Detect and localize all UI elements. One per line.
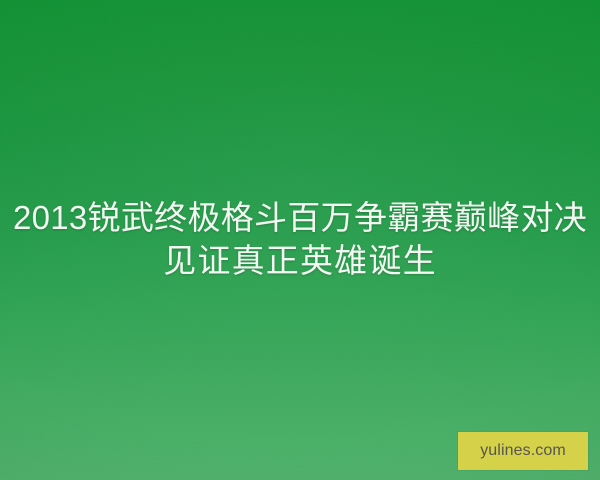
headline-line-1: 2013锐武终极格斗百万争霸赛巅峰对决 [0,196,600,239]
headline-line-2: 见证真正英雄诞生 [0,239,600,282]
headline-title: 2013锐武终极格斗百万争霸赛巅峰对决 见证真正英雄诞生 [0,196,600,282]
watermark-text: yulines.com [480,443,566,459]
promo-banner: 2013锐武终极格斗百万争霸赛巅峰对决 见证真正英雄诞生 yulines.com [0,0,600,480]
watermark-badge: yulines.com [458,432,588,470]
